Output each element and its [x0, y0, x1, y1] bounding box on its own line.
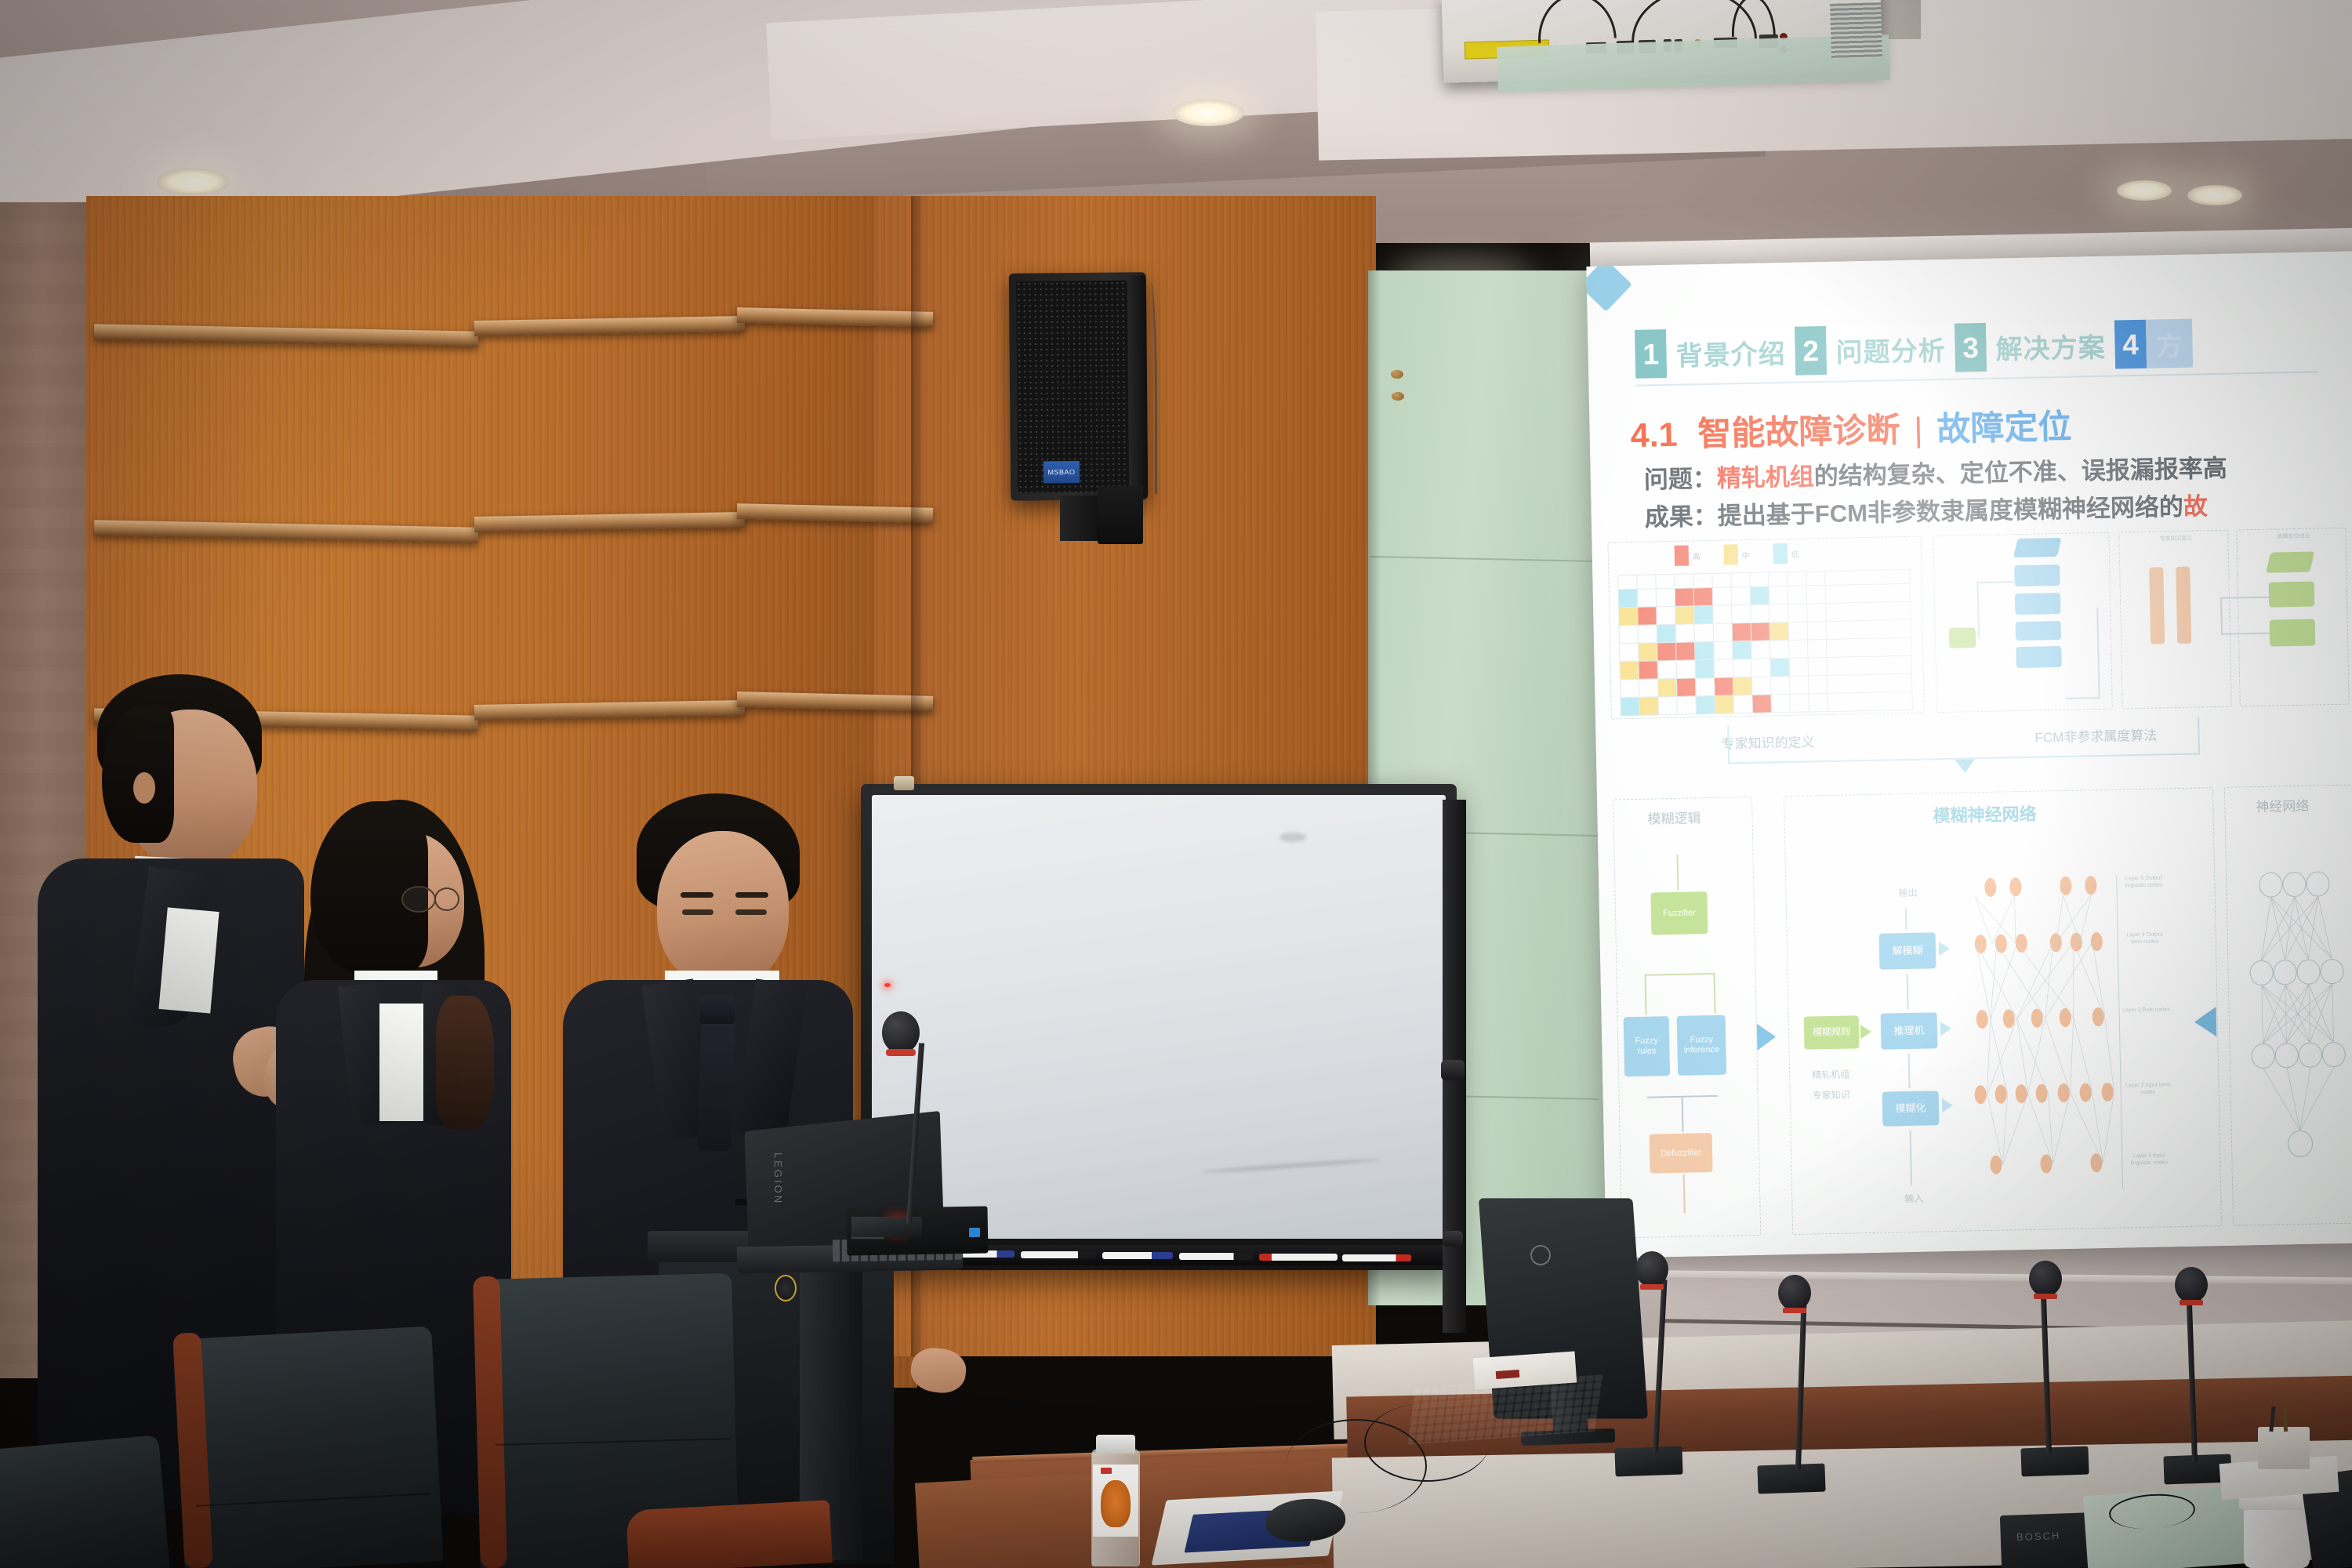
ear — [133, 772, 155, 804]
downlight-icon — [2117, 180, 2172, 201]
fuzzy-inference-box: Fuzzy inference — [1677, 1015, 1727, 1076]
dell-logo-icon — [1530, 1245, 1551, 1265]
fuzzy-rules-box: Fuzzy rules — [1624, 1016, 1671, 1076]
laptop-brand-label: LEGION — [772, 1152, 784, 1205]
slide-title-divider: | — [1914, 411, 1923, 448]
slide-tab-4-number: 4 — [2114, 320, 2147, 369]
fuzzify-box: 模糊化 — [1882, 1091, 1940, 1126]
downlight-icon — [1172, 100, 1244, 126]
fnn-layer-4 — [1587, 289, 2352, 304]
fcm-process-node — [2176, 567, 2191, 644]
eyebrow — [681, 892, 713, 898]
fcm-start-node — [2013, 538, 2061, 557]
downlight-icon — [2187, 185, 2242, 205]
legend-swatch-mid — [1724, 544, 1739, 564]
caption-expert-knowledge: 专家知识的定义 — [1721, 731, 1814, 752]
slide-title-main: 智能故障诊断 — [1697, 412, 1900, 453]
matrix-legend: 高 中 低 — [1675, 543, 1799, 566]
fuzzifier-box: Fuzzifier — [1650, 891, 1708, 935]
center-note-mill: 精轧机组 — [1803, 1069, 1858, 1082]
whiteboard-marker[interactable] — [1259, 1254, 1338, 1261]
legend-item-mid: 中 — [1724, 544, 1751, 565]
flow-arrow-small-icon — [1940, 1022, 1951, 1036]
keyboard-indicator-red — [1496, 1370, 1520, 1379]
speaker-mount-arm — [1098, 486, 1143, 544]
fcm-step-node — [2016, 646, 2062, 668]
slide-nav-tabs: 1 背景介绍 2 问题分析 3 解决方案 4 方 — [1635, 319, 2193, 379]
slide-tab-2-number: 2 — [1795, 326, 1827, 376]
conference-room-scene: MSBAO 1 背景介绍 2 问题分析 3 解决方案 — [0, 0, 2352, 1568]
fnn-layer-5 — [1587, 289, 2352, 304]
slide-tab-2[interactable]: 2 问题分析 — [1795, 324, 1955, 376]
slide-tab-1[interactable]: 1 背景介绍 — [1635, 327, 1795, 379]
problem-highlight: 精轧机组 — [1717, 463, 1815, 492]
legend-label-mid: 中 — [1742, 548, 1750, 560]
glasses — [434, 887, 459, 911]
necktie-knot — [699, 996, 735, 1024]
flow-arrow-right-icon — [1757, 1023, 1777, 1050]
result-label: 成果： — [1644, 503, 1718, 532]
whiteboard-smudge — [1201, 1157, 1381, 1174]
legend-label-low: 低 — [1791, 547, 1799, 559]
slide-title: 4.1 智能故障诊断 | 故障定位 — [1630, 400, 2072, 457]
shirt-front — [158, 907, 219, 1013]
fuzzy-rules-center-box: 模糊规则 — [1804, 1015, 1860, 1049]
fnn-layer-label-4: Layer 4 Output term nodes — [2121, 931, 2169, 946]
whiteboard-marker[interactable] — [1179, 1253, 1253, 1260]
fcm-decision-node — [1586, 259, 1632, 312]
pen-holder — [2258, 1427, 2310, 1469]
result-highlight: 故 — [2183, 492, 2209, 521]
chair-armrest — [626, 1500, 833, 1568]
flow-arrow-small-icon — [1942, 1098, 1953, 1112]
slide-tab-2-label: 问题分析 — [1826, 324, 1955, 375]
fnn-layer-3 — [1587, 289, 2352, 304]
fcm-step-node — [2016, 621, 2061, 641]
wall-speaker: MSBAO — [1009, 272, 1149, 501]
bottle-brand-mark — [1101, 1468, 1112, 1474]
inference-engine-box: 推理机 — [1881, 1012, 1938, 1049]
whiteboard-surface — [872, 795, 1446, 1239]
slide-tab-3-number: 3 — [1955, 323, 1987, 372]
podium-mic-head — [882, 1011, 920, 1054]
slide-title-sub: 故障定位 — [1936, 408, 2072, 448]
problem-label: 问题： — [1644, 465, 1718, 494]
whiteboard-adjust-knob[interactable] — [1441, 1060, 1465, 1080]
projector-vent — [1830, 2, 1882, 59]
podium-mic-indicator — [886, 1049, 916, 1056]
laser-pointer-dot — [884, 983, 891, 987]
expert-knowledge-matrix — [1617, 569, 1913, 716]
fnn-layer-1 — [1587, 289, 2352, 304]
head — [657, 831, 789, 986]
fcm-step-node — [2015, 593, 2061, 615]
whiteboard-top-clip — [894, 776, 914, 790]
fcm-output-node — [2266, 551, 2314, 572]
flow-arrow-left-icon — [2194, 1007, 2217, 1037]
slide-tab-4-active[interactable]: 4 方 — [2114, 319, 2193, 369]
presentation-slide: 1 背景介绍 2 问题分析 3 解决方案 4 方 4.1 — [1586, 251, 2352, 1258]
glasses — [401, 886, 436, 913]
fcm-middle-panel — [2118, 530, 2232, 710]
whiteboard-smudge — [1279, 833, 1306, 842]
chair-back-left — [172, 1327, 443, 1568]
legend-swatch-low — [1773, 543, 1788, 564]
chair-foreground-left — [0, 1435, 170, 1568]
caption-connector — [2198, 717, 2200, 754]
wall-knob-icon — [1392, 392, 1404, 401]
slide-title-number: 4.1 — [1630, 416, 1678, 455]
flow-arrow-small-icon — [1860, 1025, 1871, 1039]
legend-item-high: 高 — [1675, 545, 1701, 566]
water-bottle-cap — [1096, 1435, 1135, 1454]
nn-edges — [2241, 862, 2352, 1171]
legend-swatch-high — [1675, 546, 1690, 566]
bosch-brand-label: BOSCH — [2016, 1530, 2061, 1543]
speaker-brand-badge: MSBAO — [1044, 461, 1080, 483]
fnn-layer-label-1: Layer 1 Input linguistic nodes — [2125, 1152, 2173, 1167]
legend-item-low: 低 — [1773, 543, 1800, 564]
downlight-icon — [157, 169, 229, 195]
flow-arrow-small-icon — [1939, 942, 1950, 956]
whiteboard-marker[interactable] — [1021, 1251, 1096, 1258]
problem-rest: 的结构复杂、定位不准、误报漏报率高 — [1813, 455, 2227, 491]
slide-tab-1-label: 背景介绍 — [1666, 327, 1795, 378]
eyebrow — [735, 892, 768, 898]
defuzzifier-box: Defuzzifier — [1650, 1133, 1713, 1174]
fnn-layer-label-2: Layer 2 Input term nodes — [2123, 1081, 2172, 1096]
fcm-result-node — [2270, 619, 2316, 646]
section-title-fuzzy-logic: 模糊逻辑 — [1647, 807, 1700, 827]
fcm-loop-node — [1949, 627, 1976, 648]
whiteboard-adjust-knob[interactable] — [1443, 1231, 1463, 1247]
desk-cable — [1364, 1403, 1490, 1482]
hair-highlight — [436, 996, 494, 1129]
nn-layer-top — [1587, 289, 2352, 304]
nn-layer-out — [1587, 289, 2352, 304]
slide-tab-4-label: 方 — [2146, 319, 2193, 368]
eye — [735, 909, 767, 915]
speaker-bracket — [1060, 495, 1102, 541]
fcm-step-node — [2014, 564, 2060, 586]
fox-illustration-icon — [1101, 1480, 1131, 1527]
chair-badge-icon — [775, 1275, 797, 1301]
shirt-front — [379, 1004, 423, 1121]
nn-layer-mid2 — [1587, 289, 2352, 304]
speaker-side-panel — [1127, 275, 1148, 496]
caption-fcm-algorithm: FCM非参求属度算法 — [2034, 724, 2157, 746]
defuzzify-box: 解模糊 — [1879, 932, 1936, 969]
whiteboard-marker[interactable] — [1102, 1252, 1173, 1259]
slide-tab-3-label: 解决方案 — [1986, 321, 2115, 372]
section-title-nn: 神经网络 — [2256, 795, 2309, 815]
section-title-fuzzy-nn: 模糊神经网络 — [1933, 800, 2037, 828]
center-note-expert: 专家知识 — [1804, 1089, 1859, 1102]
wall-knob-icon — [1391, 370, 1403, 379]
slide-tab-1-number: 1 — [1635, 329, 1667, 379]
status-led-blue — [969, 1228, 980, 1237]
necktie — [697, 1001, 737, 1151]
fcm-result-node — [2269, 581, 2315, 607]
center-note-input: 输入 — [1898, 1192, 1929, 1205]
fnn-layer-label-5: Layer 5 Output linguistic nodes — [2119, 874, 2168, 889]
legend-label-high: 高 — [1693, 550, 1700, 561]
projection-screen: 1 背景介绍 2 问题分析 3 解决方案 4 方 4.1 — [1586, 251, 2352, 1258]
whiteboard — [861, 784, 1457, 1270]
eye — [682, 909, 713, 915]
slide-tab-3[interactable]: 3 解决方案 — [1955, 321, 2115, 372]
fnn-edges — [1959, 868, 2122, 1185]
whiteboard-marker[interactable] — [1342, 1254, 1411, 1261]
center-note-output: 输出 — [1892, 887, 1923, 900]
fnn-layer-label-3: Layer 3 Rule nodes — [2122, 1006, 2170, 1014]
nn-layer-mid1 — [1587, 289, 2352, 304]
result-rest: 提出基于FCM非参数隶属度模糊神经网络的 — [1717, 493, 2183, 530]
fnn-layer-2 — [1587, 289, 2352, 304]
flow-arrow-down-icon — [1955, 759, 1975, 773]
fcm-process-node — [2149, 567, 2165, 644]
